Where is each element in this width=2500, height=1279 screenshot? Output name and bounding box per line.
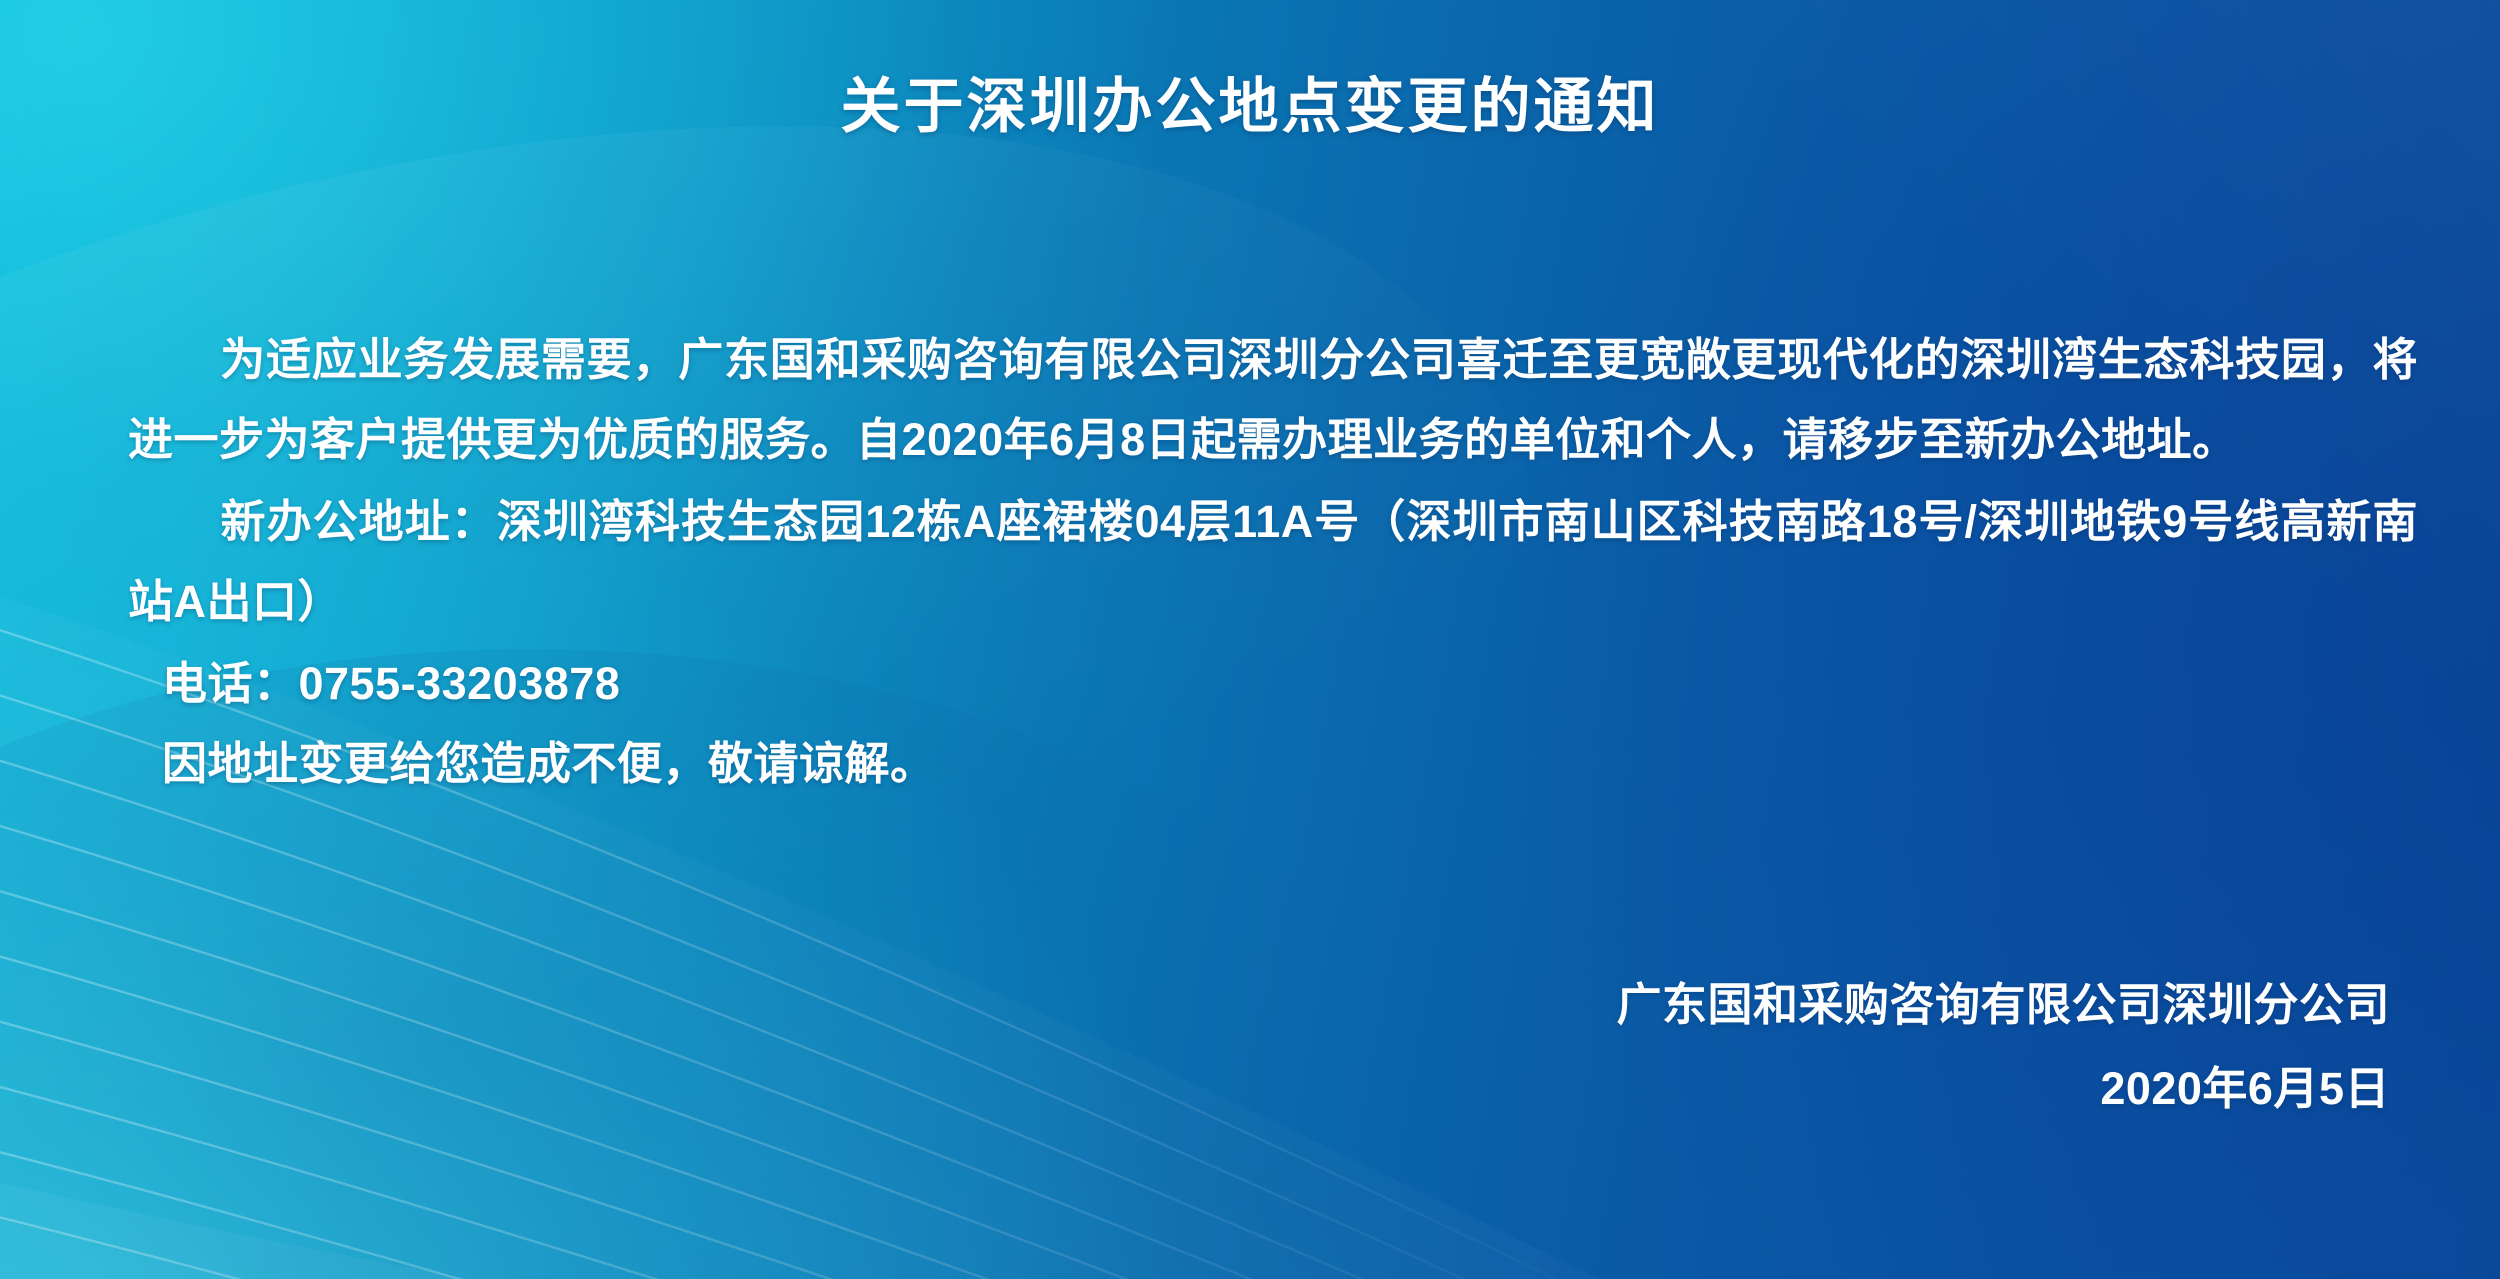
paragraph-1-text: 为适应业务发展需要，广东国和采购咨询有限公司深圳分公司喜迁至更宽敞更现代化的深圳… bbox=[128, 334, 2418, 465]
notice-poster: 关于深圳办公地点变更的通知 为适应业务发展需要，广东国和采购咨询有限公司深圳分公… bbox=[0, 0, 2500, 1279]
poster-content: 关于深圳办公地点变更的通知 为适应业务发展需要，广东国和采购咨询有限公司深圳分公… bbox=[0, 0, 2500, 1279]
notice-body: 为适应业务发展需要，广东国和采购咨询有限公司深圳分公司喜迁至更宽敞更现代化的深圳… bbox=[128, 320, 2418, 804]
signature-block: 广东国和采购咨询有限公司深圳分公司 2020年6月5日 bbox=[1616, 963, 2390, 1131]
signature-date: 2020年6月5日 bbox=[1616, 1047, 2390, 1131]
page-title: 关于深圳办公地点变更的通知 bbox=[0, 72, 2500, 141]
signature-company: 广东国和采购咨询有限公司深圳分公司 bbox=[1616, 963, 2390, 1047]
paragraph-1: 为适应业务发展需要，广东国和采购咨询有限公司深圳分公司喜迁至更宽敞更现代化的深圳… bbox=[128, 320, 2418, 480]
phone-line: 电话：0755-33203878 bbox=[128, 644, 2418, 724]
apology-line: 因地址变更给您造成不便，敬请谅解。 bbox=[128, 724, 2418, 804]
paragraph-2: 新办公地址：深圳湾科技生态园12栋A座裙楼04层11A号（深圳市南山区科技南路1… bbox=[128, 482, 2418, 642]
paragraph-2-text: 新办公地址：深圳湾科技生态园12栋A座裙楼04层11A号（深圳市南山区科技南路1… bbox=[128, 496, 2418, 627]
